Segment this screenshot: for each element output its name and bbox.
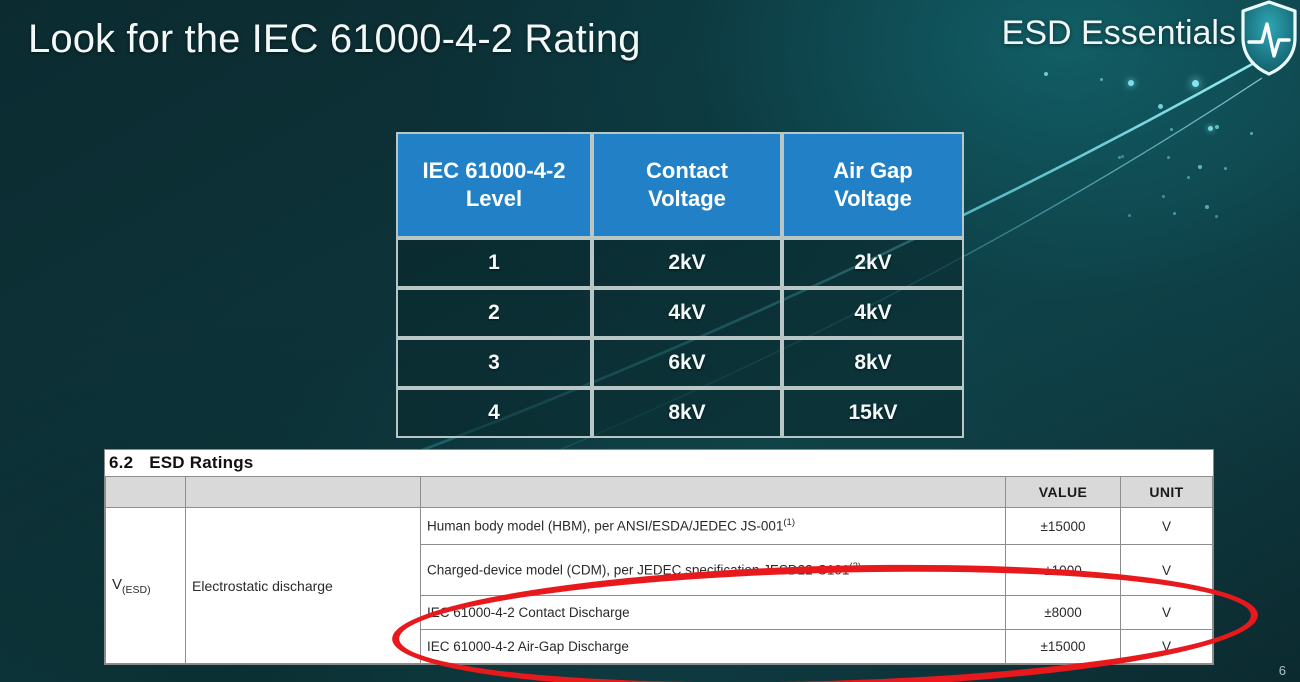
iec-level-table: IEC 61000-4-2 Level Contact Voltage Air … xyxy=(396,132,964,438)
col-header-level: IEC 61000-4-2 Level xyxy=(396,132,592,238)
slide-title: Look for the IEC 61000-4-2 Rating xyxy=(28,17,641,62)
description-cell: IEC 61000-4-2 Air-Gap Discharge xyxy=(421,630,1006,664)
cell-level: 4 xyxy=(396,388,592,438)
table-row: 2 4kV 4kV xyxy=(396,288,964,338)
datasheet-section-heading: 6.2ESD Ratings xyxy=(105,450,1213,476)
cell-contact-voltage: 4kV xyxy=(592,288,782,338)
particle-dot xyxy=(1192,80,1199,87)
col-header-unit: UNIT xyxy=(1121,477,1213,508)
cell-contact-voltage: 6kV xyxy=(592,338,782,388)
unit-cell: V xyxy=(1121,508,1213,545)
cell-airgap-voltage: 8kV xyxy=(782,338,964,388)
esd-ratings-table: VALUE UNIT V(ESD) Electrostatic discharg… xyxy=(105,476,1213,664)
section-title: ESD Ratings xyxy=(149,453,253,472)
col-header-airgap-line2: Voltage xyxy=(834,186,912,211)
description-cell: IEC 61000-4-2 Contact Discharge xyxy=(421,596,1006,630)
value-cell: ±8000 xyxy=(1006,596,1121,630)
description-text: Charged-device model (CDM), per JEDEC sp… xyxy=(427,562,849,577)
cell-level: 3 xyxy=(396,338,592,388)
col-header-contact-line1: Contact xyxy=(646,158,728,183)
particle-dot xyxy=(1167,156,1170,159)
slide-canvas: Look for the IEC 61000-4-2 Rating ESD Es… xyxy=(0,0,1300,682)
unit-cell: V xyxy=(1121,596,1213,630)
particle-dot xyxy=(1162,195,1165,198)
brand-label: ESD Essentials xyxy=(1002,14,1236,53)
particle-dot xyxy=(1198,165,1202,169)
particle-dot xyxy=(1205,205,1209,209)
cell-level: 1 xyxy=(396,238,592,288)
parameter-cell: Electrostatic discharge xyxy=(186,508,421,664)
col-header-contact-line2: Voltage xyxy=(648,186,726,211)
symbol-text: V xyxy=(112,576,122,593)
table-row: 1 2kV 2kV xyxy=(396,238,964,288)
symbol-cell: V(ESD) xyxy=(106,508,186,664)
unit-cell: V xyxy=(1121,630,1213,664)
cell-level: 2 xyxy=(396,288,592,338)
page-number: 6 xyxy=(1279,663,1286,678)
particle-dot xyxy=(1215,215,1218,218)
particle-dot xyxy=(1158,104,1163,109)
particle-dot xyxy=(1121,155,1124,158)
col-header-airgap-voltage: Air Gap Voltage xyxy=(782,132,964,238)
particle-dot xyxy=(1250,132,1253,135)
symbol-subscript: (ESD) xyxy=(122,584,151,596)
table-header-row: IEC 61000-4-2 Level Contact Voltage Air … xyxy=(396,132,964,238)
cell-airgap-voltage: 2kV xyxy=(782,238,964,288)
particle-dot xyxy=(1173,212,1176,215)
spacer-cell xyxy=(186,477,421,508)
particle-dot xyxy=(1128,80,1134,86)
cell-contact-voltage: 2kV xyxy=(592,238,782,288)
col-header-airgap-line1: Air Gap xyxy=(833,158,912,183)
col-header-value: VALUE xyxy=(1006,477,1121,508)
spacer-cell xyxy=(421,477,1006,508)
particle-dot xyxy=(1215,125,1219,129)
footnote-marker: (1) xyxy=(783,517,795,528)
cell-airgap-voltage: 15kV xyxy=(782,388,964,438)
datasheet-excerpt: 6.2ESD Ratings VALUE UNIT V(ESD) xyxy=(105,450,1213,664)
col-header-level-line1: IEC 61000-4-2 xyxy=(422,158,565,183)
value-cell: ±15000 xyxy=(1006,508,1121,545)
particle-dot xyxy=(1208,126,1213,131)
spacer-cell xyxy=(106,477,186,508)
particle-dot xyxy=(1118,156,1121,159)
value-cell: ±1000 xyxy=(1006,545,1121,596)
particle-dot xyxy=(1044,72,1048,76)
table-row: V(ESD) Electrostatic discharge Human bod… xyxy=(106,508,1213,545)
particle-dot xyxy=(1128,214,1131,217)
shield-pulse-icon xyxy=(1240,0,1298,76)
col-header-contact-voltage: Contact Voltage xyxy=(592,132,782,238)
table-header-row: VALUE UNIT xyxy=(106,477,1213,508)
cell-airgap-voltage: 4kV xyxy=(782,288,964,338)
footnote-marker: (2) xyxy=(849,561,861,572)
table-row: 3 6kV 8kV xyxy=(396,338,964,388)
description-cell: Human body model (HBM), per ANSI/ESDA/JE… xyxy=(421,508,1006,545)
description-cell: Charged-device model (CDM), per JEDEC sp… xyxy=(421,545,1006,596)
section-number: 6.2 xyxy=(109,453,133,472)
unit-cell: V xyxy=(1121,545,1213,596)
particle-dot xyxy=(1100,78,1103,81)
cell-contact-voltage: 8kV xyxy=(592,388,782,438)
table-row: 4 8kV 15kV xyxy=(396,388,964,438)
particle-dot xyxy=(1170,128,1173,131)
value-cell: ±15000 xyxy=(1006,630,1121,664)
col-header-level-line2: Level xyxy=(466,186,522,211)
description-text: Human body model (HBM), per ANSI/ESDA/JE… xyxy=(427,518,783,533)
particle-dot xyxy=(1187,176,1190,179)
particle-dot xyxy=(1224,167,1227,170)
